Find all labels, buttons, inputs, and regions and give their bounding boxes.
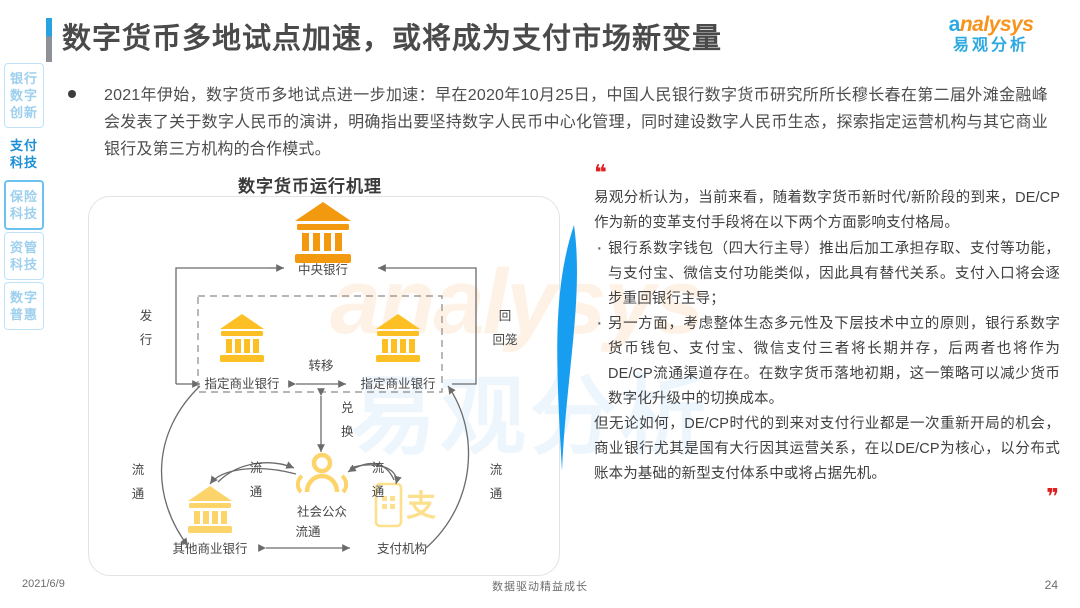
diagram-title: 数字货币运行机理 bbox=[90, 172, 530, 197]
footer-page-number: 24 bbox=[1045, 578, 1058, 592]
sidebar-item-label: 银行数字创新 bbox=[5, 70, 43, 121]
node-label-other-bank: 其他商业银行 bbox=[172, 541, 247, 556]
sidebar-item-bank-digital-innovation[interactable]: 银行数字创新 bbox=[4, 63, 44, 128]
logo-text-en: analysys bbox=[926, 14, 1056, 36]
commentary-panel: ❝ 易观分析认为，当前来看，随着数字货币新时代/新阶段的到来，DE/CP作为新的… bbox=[594, 166, 1060, 505]
svg-text:支: 支 bbox=[406, 490, 436, 523]
commentary-bullet-1: 银行系数字钱包（四大行主导）推出后加工承担存取、支付等功能，与支付宝、微信支付功… bbox=[594, 237, 1060, 312]
logo-en-rest: nalysys bbox=[960, 13, 1034, 36]
commentary-closing: 但无论如何，DE/CP时代的到来对支付行业都是一次重新开局的机会，商业银行尤其是… bbox=[594, 412, 1060, 487]
currency-flow-diagram: 中央银行 发 行 回 回笼 指定商业银行 指定商业银行 转移 兑 换 bbox=[88, 196, 558, 574]
analysys-logo: analysys 易观分析 bbox=[926, 14, 1056, 62]
public-person-icon bbox=[298, 455, 346, 492]
edge-label-exchange-2: 换 bbox=[341, 425, 354, 439]
footer: 2021/6/9 数据驱动精益成长 24 bbox=[0, 578, 1080, 598]
edge-label-transfer: 转移 bbox=[308, 358, 333, 373]
sidebar-item-label: 支付科技 bbox=[5, 137, 43, 171]
designated-bank-left-icon bbox=[220, 314, 264, 362]
node-label-designated-bank-right: 指定商业银行 bbox=[360, 376, 435, 391]
node-label-central-bank: 中央银行 bbox=[298, 262, 348, 277]
logo-a-glyph: a bbox=[949, 13, 960, 36]
quote-close-icon: ❞ bbox=[594, 489, 1060, 505]
payment-institution-icon: 支 bbox=[376, 484, 436, 526]
lead-paragraph-block: 2021年伊始，数字货币多地试点进一步加速：早在2020年10月25日，中国人民… bbox=[68, 82, 1048, 163]
edge-label-circ-bottom: 流通 bbox=[295, 525, 321, 539]
sidebar-item-label: 数字普惠 bbox=[5, 289, 43, 323]
edge-label-issue-1: 发 bbox=[140, 308, 153, 323]
central-bank-icon bbox=[295, 202, 351, 263]
sidebar-nav: 银行数字创新 支付科技 保险科技 资管科技 数字普惠 bbox=[4, 63, 48, 332]
sidebar-item-insurance-tech[interactable]: 保险科技 bbox=[4, 180, 44, 230]
sidebar-item-label: 资管科技 bbox=[5, 239, 43, 273]
edge-label-circ-outer-right-2: 通 bbox=[490, 487, 503, 501]
bullet-icon bbox=[68, 90, 76, 98]
commentary-bullet-2: 另一方面，考虑整体生态多元性及下层技术中立的原则，银行系数字货币钱包、支付宝、微… bbox=[594, 312, 1060, 412]
sidebar-item-payment-tech[interactable]: 支付科技 bbox=[4, 130, 44, 178]
lead-paragraph-text: 2021年伊始，数字货币多地试点进一步加速：早在2020年10月25日，中国人民… bbox=[104, 82, 1048, 163]
footer-slogan: 数据驱动精益成长 bbox=[0, 578, 1080, 594]
page-title: 数字货币多地试点加速，或将成为支付市场新变量 bbox=[62, 15, 722, 57]
commentary-intro: 易观分析认为，当前来看，随着数字货币新时代/新阶段的到来，DE/CP作为新的变革… bbox=[594, 186, 1060, 236]
edge-label-circ-right-2: 通 bbox=[372, 485, 385, 499]
sidebar-item-digital-inclusive-finance[interactable]: 数字普惠 bbox=[4, 282, 44, 330]
edge-label-circ-outer-right-1: 流 bbox=[490, 463, 503, 477]
quote-open-icon: ❝ bbox=[594, 166, 1060, 180]
designated-bank-right-icon bbox=[376, 314, 420, 362]
header: 数字货币多地试点加速，或将成为支付市场新变量 analysys 易观分析 bbox=[0, 0, 1080, 72]
sidebar-item-label: 保险科技 bbox=[6, 188, 42, 222]
title-accent-bar bbox=[46, 18, 52, 62]
edge-label-circ-outer-left-2: 通 bbox=[132, 487, 145, 501]
edge-label-circ-right-1: 流 bbox=[372, 461, 385, 475]
edge-label-withdraw-2: 回笼 bbox=[492, 332, 517, 347]
edge-label-issue-2: 行 bbox=[140, 333, 153, 347]
node-label-payment-inst: 支付机构 bbox=[377, 541, 427, 556]
logo-text-cn: 易观分析 bbox=[926, 36, 1056, 56]
edge-label-circ-outer-left-1: 流 bbox=[132, 463, 145, 477]
other-commercial-bank-icon bbox=[188, 486, 232, 533]
edge-label-exchange-1: 兑 bbox=[341, 401, 354, 415]
node-label-public: 社会公众 bbox=[297, 504, 347, 519]
edge-label-withdraw-1: 回 bbox=[499, 309, 512, 323]
edge-label-circ-left-2: 通 bbox=[250, 485, 263, 499]
node-label-designated-bank-left: 指定商业银行 bbox=[204, 376, 279, 391]
sidebar-item-asset-management-tech[interactable]: 资管科技 bbox=[4, 232, 44, 280]
edge-label-circ-left-1: 流 bbox=[250, 461, 263, 475]
